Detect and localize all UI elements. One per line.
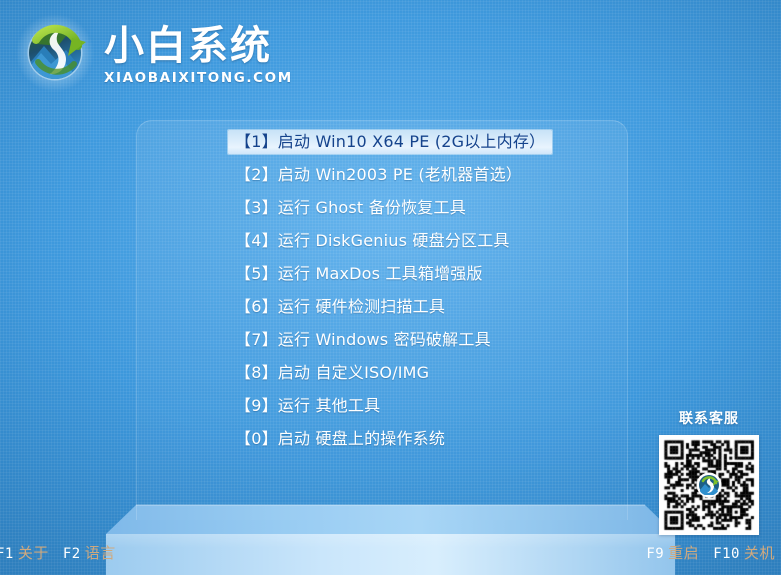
menu-item-label: 【7】运行 Windows 密码破解工具	[235, 330, 491, 349]
hotkey-key-f10[interactable]: F10	[713, 546, 740, 562]
menu-item-label: 【6】运行 硬件检测扫描工具	[235, 297, 445, 316]
hotkey-label-f2[interactable]: 语言	[85, 544, 116, 562]
menu-item-9[interactable]: 【9】运行 其他工具	[228, 394, 387, 418]
brand-logo: 小白系统 XIAOBAIXITONG.COM	[14, 12, 293, 94]
menu-item-label: 【1】启动 Win10 X64 PE (2G以上内存）	[235, 132, 545, 151]
menu-item-7[interactable]: 【7】运行 Windows 密码破解工具	[228, 328, 498, 352]
hotkey-key-f2[interactable]: F2	[63, 546, 81, 562]
boot-menu-list[interactable]: 【1】启动 Win10 X64 PE (2G以上内存）【2】启动 Win2003…	[228, 130, 558, 460]
menu-item-label: 【4】运行 DiskGenius 硬盘分区工具	[235, 231, 510, 250]
menu-item-label: 【2】启动 Win2003 PE (老机器首选）	[235, 165, 522, 184]
menu-item-6[interactable]: 【6】运行 硬件检测扫描工具	[228, 295, 452, 319]
menu-item-1[interactable]: 【1】启动 Win10 X64 PE (2G以上内存）	[228, 130, 552, 154]
menu-item-8[interactable]: 【8】启动 自定义ISO/IMG	[228, 361, 436, 385]
brand-domain: XIAOBAIXITONG.COM	[104, 70, 293, 86]
menu-item-4[interactable]: 【4】运行 DiskGenius 硬盘分区工具	[228, 229, 517, 253]
hotkey-label-f9[interactable]: 重启	[668, 544, 699, 562]
menu-item-3[interactable]: 【3】运行 Ghost 备份恢复工具	[228, 196, 473, 220]
brand-title: 小白系统	[104, 25, 293, 67]
boot-menu-screen: 小白系统 XIAOBAIXITONG.COM 【1】启动 Win10 X64 P…	[0, 0, 781, 575]
hotkey-key-f9[interactable]: F9	[646, 546, 664, 562]
menu-item-5[interactable]: 【5】运行 MaxDos 工具箱增强版	[228, 262, 490, 286]
menu-item-label: 【3】运行 Ghost 备份恢复工具	[235, 198, 466, 217]
hotkey-key-f1[interactable]: F1	[0, 546, 14, 562]
contact-support-block: 联系客服	[657, 408, 761, 535]
menu-item-label: 【5】运行 MaxDos 工具箱增强版	[235, 264, 483, 283]
hotkey-label-f10[interactable]: 关机	[744, 544, 775, 562]
qr-code	[659, 435, 759, 535]
menu-item-0[interactable]: 【0】启动 硬盘上的操作系统	[228, 427, 452, 451]
menu-item-label: 【8】启动 自定义ISO/IMG	[235, 363, 429, 382]
hotkeys-right: F9重启F10关机	[646, 542, 775, 563]
hotkeys-left: F1关于F2语言	[0, 542, 116, 563]
hotkey-label-f1[interactable]: 关于	[18, 544, 49, 562]
menu-item-label: 【9】运行 其他工具	[235, 396, 380, 415]
globe-refresh-icon	[14, 12, 96, 94]
menu-item-2[interactable]: 【2】启动 Win2003 PE (老机器首选）	[228, 163, 529, 187]
qr-center-logo-icon	[698, 474, 720, 496]
menu-item-label: 【0】启动 硬盘上的操作系统	[235, 429, 445, 448]
contact-support-title: 联系客服	[657, 408, 761, 428]
